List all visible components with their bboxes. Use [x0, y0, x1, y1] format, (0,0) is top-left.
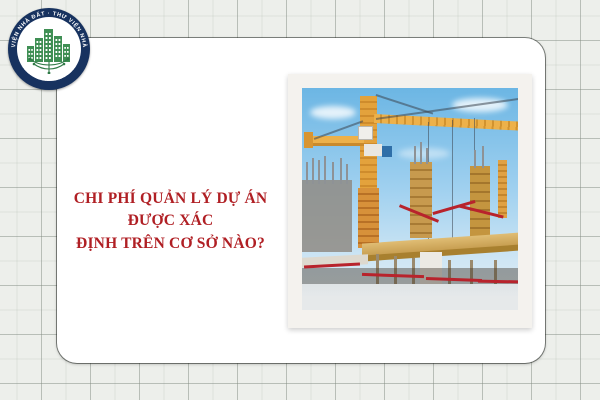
cloud-icon: [310, 106, 356, 119]
secondary-crane-mast: [498, 160, 507, 218]
rebar: [306, 162, 308, 184]
photo-frame: [288, 74, 532, 328]
construction-site-photo: [302, 88, 518, 310]
rebar: [426, 148, 428, 164]
rebar: [346, 164, 348, 184]
logo-emblem: [17, 17, 81, 81]
ground-slab: [302, 296, 518, 310]
crane-counter-jib-chord: [308, 143, 364, 146]
crane-load-block: [382, 146, 392, 157]
scaffold-block: [302, 180, 352, 252]
site-logo[interactable]: THƯ VIỆN NHÀ ĐẤT · THƯ VIỆN NHÀ ĐẤT www.…: [8, 8, 90, 90]
rebar: [340, 158, 342, 184]
rebar: [414, 146, 416, 164]
rebar: [312, 158, 314, 184]
screenshot-root: THƯ VIỆN NHÀ ĐẤT · THƯ VIỆN NHÀ ĐẤT www.…: [0, 0, 600, 400]
headline-line-1: CHI PHÍ QUẢN LÝ DỰ ÁN ĐƯỢC XÁC: [74, 190, 268, 229]
headline: CHI PHÍ QUẢN LÝ DỰ ÁN ĐƯỢC XÁC ĐỊNH TRÊN…: [58, 188, 283, 255]
rebar: [332, 162, 334, 184]
crane-trolley: [364, 144, 382, 156]
rebar: [482, 146, 484, 168]
rebar: [474, 150, 476, 168]
column-formwork: [410, 162, 432, 238]
hoist-cable: [452, 120, 453, 240]
crane-mast-lower: [358, 188, 379, 248]
headline-line-2: ĐỊNH TRÊN CƠ SỞ NÀO?: [58, 233, 283, 255]
cloud-icon: [398, 148, 450, 159]
crane-cab: [358, 126, 373, 140]
rebar: [318, 160, 320, 184]
crane-counterweight: [304, 132, 313, 148]
rebar: [324, 156, 326, 184]
rebar: [420, 142, 422, 164]
buildings-emblem-icon: [22, 24, 76, 74]
